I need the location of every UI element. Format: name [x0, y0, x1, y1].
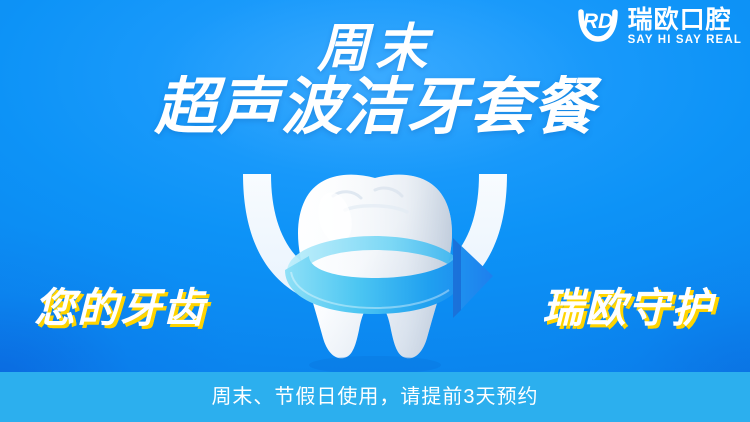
- tooth-shape: [298, 175, 452, 359]
- headline-line-2: 超声波洁牙套餐: [0, 75, 750, 142]
- headline-block: 周末 超声波洁牙套餐: [0, 22, 750, 142]
- promo-poster: RD 瑞欧口腔 SAY HI SAY REAL 周末 超声波洁牙套餐: [0, 0, 750, 422]
- headline-line-1: 周末: [0, 22, 750, 77]
- notice-bar: 周末、节假日使用，请提前3天预约: [0, 372, 750, 422]
- slogan-right: 瑞欧守护: [542, 286, 714, 331]
- notice-text: 周末、节假日使用，请提前3天预约: [211, 387, 538, 407]
- slogan-left: 您的牙齿: [34, 286, 206, 331]
- tooth-illustration: [225, 160, 525, 375]
